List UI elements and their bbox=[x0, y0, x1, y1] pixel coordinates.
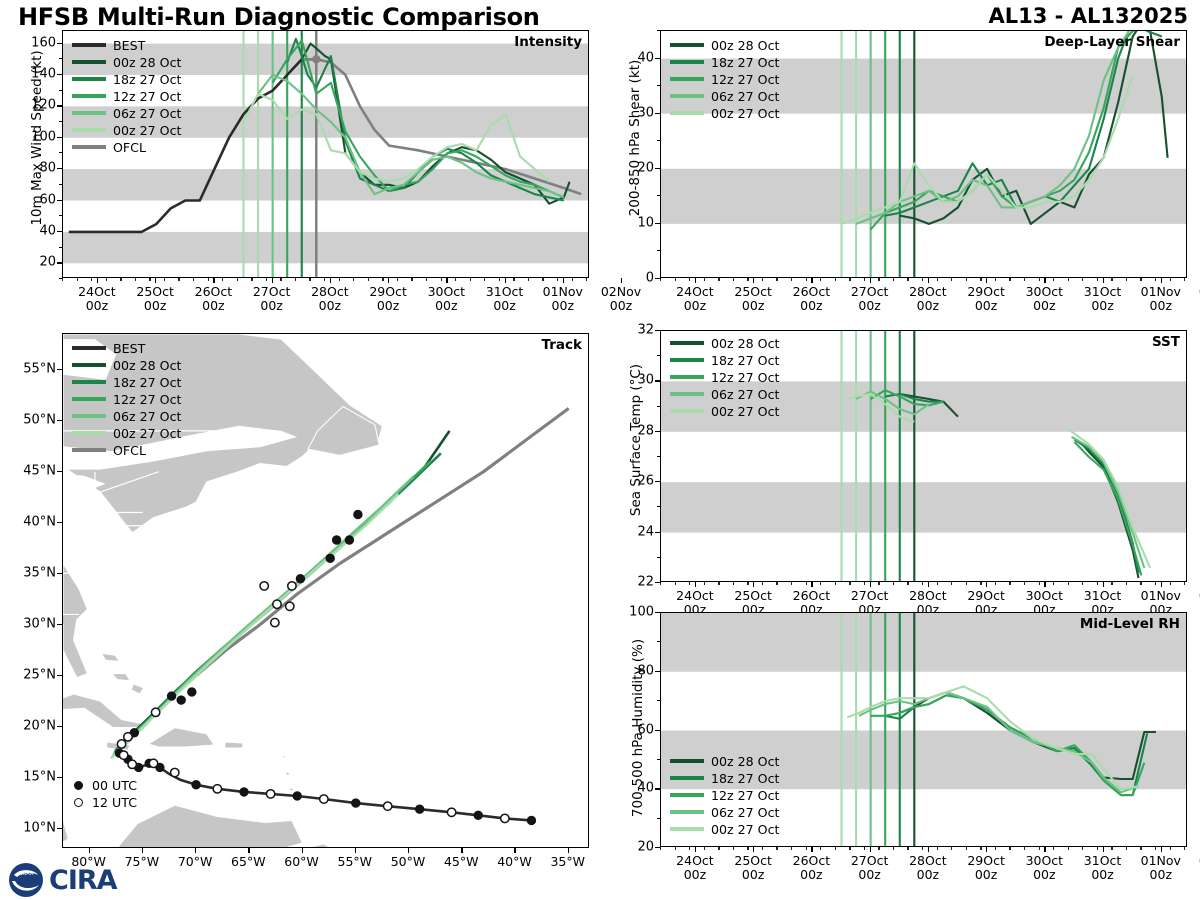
x-minor-tick bbox=[324, 278, 325, 281]
legend-item[interactable]: 00z 27 Oct bbox=[72, 425, 181, 441]
x-minor-tick bbox=[1009, 582, 1010, 585]
x-minor-tick bbox=[689, 278, 690, 281]
x-minor-tick bbox=[747, 582, 748, 585]
x-minor-tick bbox=[106, 278, 107, 281]
legend-swatch-00z-28-oct bbox=[670, 759, 704, 763]
x-minor-tick bbox=[966, 582, 967, 585]
legend-swatch-00z-27-oct bbox=[72, 431, 106, 435]
legend-swatch-12z-27-oct bbox=[670, 375, 704, 379]
track-y-tick-mark bbox=[57, 522, 62, 523]
x-tick-date: 29Oct bbox=[956, 854, 1016, 868]
x-minor-tick bbox=[820, 847, 821, 850]
x-minor-tick bbox=[806, 847, 807, 850]
x-minor-tick bbox=[1097, 847, 1098, 850]
legend-swatch-18z-27-oct bbox=[72, 380, 106, 384]
x-minor-tick bbox=[91, 278, 92, 281]
x-tick-date: 27Oct bbox=[840, 589, 900, 603]
x-minor-tick bbox=[542, 278, 543, 281]
landmass bbox=[225, 742, 243, 748]
x-minor-tick bbox=[266, 278, 267, 281]
legend-item[interactable]: 00z 28 Oct bbox=[670, 37, 779, 53]
x-tick-label: 30Oct00z bbox=[1014, 854, 1074, 883]
legend-label: 18z 27 Oct bbox=[711, 353, 779, 368]
x-minor-tick bbox=[1053, 582, 1054, 585]
x-minor-tick bbox=[718, 278, 719, 281]
track-marker-00utc bbox=[352, 799, 360, 807]
y-minor-tick bbox=[657, 506, 660, 507]
x-tick-label: 24Oct00z bbox=[67, 285, 127, 314]
track-marker-12utc bbox=[266, 790, 274, 798]
init-marker bbox=[312, 55, 320, 63]
x-tick-date: 25Oct bbox=[125, 285, 185, 299]
legend-item[interactable]: 12z 27 Oct bbox=[670, 71, 779, 87]
legend-item[interactable]: 06z 27 Oct bbox=[670, 804, 779, 820]
x-minor-tick bbox=[835, 278, 836, 281]
track-x-tick-label: 45°W bbox=[431, 855, 491, 869]
x-tick-date: 27Oct bbox=[840, 285, 900, 299]
track-y-tick-label: 50°N bbox=[4, 412, 56, 427]
legend-label: 12z 27 Oct bbox=[711, 370, 779, 385]
track-marker-00utc bbox=[474, 811, 482, 819]
sst-panel-title: SST bbox=[1152, 334, 1180, 350]
x-minor-tick bbox=[1097, 278, 1098, 281]
x-minor-tick bbox=[164, 278, 165, 281]
legend-swatch-12z-27-oct bbox=[670, 77, 704, 81]
legend-item[interactable]: 00z 28 Oct bbox=[72, 357, 181, 373]
y-tick-label: 40 bbox=[616, 50, 654, 65]
legend-item[interactable]: 06z 27 Oct bbox=[72, 408, 181, 424]
x-tick-label: 02Nov00z bbox=[591, 285, 651, 314]
x-minor-tick bbox=[922, 847, 923, 850]
x-minor-tick bbox=[528, 278, 529, 281]
track-marker-12utc bbox=[286, 602, 294, 610]
legend-item[interactable]: OFCL bbox=[72, 139, 181, 155]
x-minor-tick bbox=[237, 278, 238, 281]
x-tick-mark bbox=[505, 278, 506, 283]
sst-panel: SST 00z 28 Oct18z 27 Oct12z 27 Oct06z 27… bbox=[660, 330, 1187, 582]
y-tick-label: 30 bbox=[616, 373, 654, 388]
shaded-band bbox=[63, 232, 589, 263]
x-minor-tick bbox=[1184, 278, 1185, 281]
y-tick-label: 60 bbox=[18, 192, 56, 207]
legend-item[interactable]: 06z 27 Oct bbox=[670, 88, 779, 104]
x-tick-mark bbox=[155, 278, 156, 283]
legend-swatch-18z-27-oct bbox=[670, 776, 704, 780]
x-minor-tick bbox=[1082, 278, 1083, 281]
x-minor-tick bbox=[397, 278, 398, 281]
track-marker-00utc bbox=[296, 575, 304, 583]
track-y-tick-label: 40°N bbox=[4, 514, 56, 529]
x-minor-tick bbox=[1111, 582, 1112, 585]
y-tick-label: 160 bbox=[18, 35, 56, 50]
x-minor-tick bbox=[77, 278, 78, 281]
x-minor-tick bbox=[135, 278, 136, 281]
y-minor-tick bbox=[657, 700, 660, 701]
x-minor-tick bbox=[1126, 582, 1127, 585]
x-minor-tick bbox=[1039, 278, 1040, 281]
track-marker-12utc bbox=[260, 582, 268, 590]
x-minor-tick bbox=[820, 278, 821, 281]
x-tick-date: 24Oct bbox=[67, 285, 127, 299]
x-tick-label: 02Nov00z bbox=[1189, 285, 1200, 314]
track-marker-00utc bbox=[326, 554, 334, 562]
x-minor-tick bbox=[426, 278, 427, 281]
legend-item[interactable]: 12z 27 Oct bbox=[72, 391, 181, 407]
x-minor-tick bbox=[733, 582, 734, 585]
legend-item[interactable]: 00z 28 Oct bbox=[72, 54, 181, 70]
y-tick-mark bbox=[57, 74, 62, 75]
track-marker-12utc bbox=[117, 740, 125, 748]
x-tick-hour: 00z bbox=[898, 868, 958, 882]
y-minor-tick bbox=[59, 215, 62, 216]
x-tick-date: 02Nov bbox=[591, 285, 651, 299]
x-tick-mark bbox=[811, 582, 812, 587]
x-minor-tick bbox=[1184, 582, 1185, 585]
legend-label: 00z 27 Oct bbox=[711, 404, 779, 419]
track-marker-00utc bbox=[240, 788, 248, 796]
track-y-tick-label: 20°N bbox=[4, 718, 56, 733]
x-minor-tick bbox=[1140, 582, 1141, 585]
x-tick-label: 29Oct00z bbox=[956, 285, 1016, 314]
x-tick-hour: 00z bbox=[723, 868, 783, 882]
x-tick-hour: 00z bbox=[183, 299, 243, 313]
x-minor-tick bbox=[937, 582, 938, 585]
track-marker-00utc bbox=[332, 536, 340, 544]
x-minor-tick bbox=[980, 278, 981, 281]
legend-item[interactable]: 06z 27 Oct bbox=[670, 386, 779, 402]
legend-item[interactable]: BEST bbox=[72, 37, 181, 53]
x-minor-tick bbox=[995, 582, 996, 585]
x-minor-tick bbox=[718, 847, 719, 850]
legend-swatch-06z-27-oct bbox=[670, 810, 704, 814]
legend-item[interactable]: OFCL bbox=[72, 442, 181, 458]
marker-legend-label: 00 UTC bbox=[92, 778, 137, 793]
x-tick-date: 28Oct bbox=[898, 589, 958, 603]
track-x-tick-label: 65°W bbox=[218, 855, 278, 869]
legend-label: 06z 27 Oct bbox=[711, 387, 779, 402]
x-tick-label: 28Oct00z bbox=[898, 285, 958, 314]
x-tick-hour: 00z bbox=[665, 299, 725, 313]
legend-item[interactable]: 18z 27 Oct bbox=[670, 54, 779, 70]
legend-item[interactable]: 18z 27 Oct bbox=[670, 770, 779, 786]
track-marker-12utc bbox=[213, 785, 221, 793]
x-minor-tick bbox=[1068, 847, 1069, 850]
legend-item[interactable]: 00z 27 Oct bbox=[72, 122, 181, 138]
x-tick-hour: 00z bbox=[1131, 299, 1191, 313]
x-tick-label: 28Oct00z bbox=[300, 285, 360, 314]
legend-swatch-00z-27-oct bbox=[670, 111, 704, 115]
x-tick-mark bbox=[986, 582, 987, 587]
x-minor-tick bbox=[1111, 278, 1112, 281]
x-tick-hour: 00z bbox=[1189, 603, 1200, 617]
x-tick-label: 25Oct00z bbox=[125, 285, 185, 314]
x-tick-hour: 00z bbox=[665, 868, 725, 882]
y-minor-tick bbox=[59, 152, 62, 153]
x-tick-mark bbox=[870, 278, 871, 283]
track-y-tick-mark bbox=[57, 675, 62, 676]
y-minor-tick bbox=[657, 355, 660, 356]
x-minor-tick bbox=[835, 582, 836, 585]
x-minor-tick bbox=[557, 278, 558, 281]
legend-swatch-00z-28-oct bbox=[72, 363, 106, 367]
legend-swatch-12z-27-oct bbox=[72, 397, 106, 401]
legend-item[interactable]: 00z 28 Oct bbox=[670, 753, 779, 769]
x-minor-tick bbox=[849, 847, 850, 850]
track-y-tick-label: 55°N bbox=[4, 361, 56, 376]
track-marker-00utc bbox=[188, 688, 196, 696]
x-minor-tick bbox=[660, 847, 661, 850]
intensity-panel: Intensity BEST00z 28 Oct18z 27 Oct12z 27… bbox=[62, 30, 589, 278]
track-y-tick-mark bbox=[57, 369, 62, 370]
track-marker-00utc bbox=[527, 816, 535, 824]
legend-label: 06z 27 Oct bbox=[113, 409, 181, 424]
x-tick-mark bbox=[928, 847, 929, 852]
x-tick-label: 01Nov00z bbox=[1131, 285, 1191, 314]
x-minor-tick bbox=[922, 278, 923, 281]
x-minor-tick bbox=[878, 847, 879, 850]
x-minor-tick bbox=[893, 278, 894, 281]
x-minor-tick bbox=[120, 278, 121, 281]
x-minor-tick bbox=[1170, 847, 1171, 850]
x-minor-tick bbox=[864, 278, 865, 281]
y-tick-mark bbox=[57, 200, 62, 201]
legend-item[interactable]: 00z 28 Oct bbox=[670, 335, 779, 351]
x-minor-tick bbox=[864, 582, 865, 585]
marker-legend-item: 12 UTC bbox=[74, 795, 137, 810]
x-minor-tick bbox=[849, 278, 850, 281]
y-minor-tick bbox=[657, 818, 660, 819]
track-marker-12utc bbox=[124, 733, 132, 741]
track-x-tick-label: 60°W bbox=[272, 855, 332, 869]
x-minor-tick bbox=[470, 278, 471, 281]
legend-label: 00z 28 Oct bbox=[711, 38, 779, 53]
shear-panel-title: Deep-Layer Shear bbox=[1044, 34, 1180, 50]
x-minor-tick bbox=[689, 847, 690, 850]
legend-label: 00z 27 Oct bbox=[711, 106, 779, 121]
x-minor-tick bbox=[980, 847, 981, 850]
shaded-band bbox=[661, 482, 1187, 532]
x-minor-tick bbox=[675, 847, 676, 850]
track-x-tick-mark bbox=[355, 848, 356, 853]
track-marker-12utc bbox=[149, 759, 157, 767]
x-tick-date: 25Oct bbox=[723, 854, 783, 868]
legend-item[interactable]: 06z 27 Oct bbox=[72, 105, 181, 121]
legend-swatch-06z-27-oct bbox=[670, 94, 704, 98]
x-tick-label: 24Oct00z bbox=[665, 854, 725, 883]
track-marker-00utc bbox=[177, 696, 185, 704]
x-minor-tick bbox=[776, 582, 777, 585]
legend-item[interactable]: BEST bbox=[72, 340, 181, 356]
y-tick-mark bbox=[57, 168, 62, 169]
x-tick-date: 30Oct bbox=[1014, 854, 1074, 868]
x-tick-mark bbox=[1103, 847, 1104, 852]
track-marker-12utc bbox=[171, 768, 179, 776]
track-marker-12utc bbox=[273, 600, 281, 608]
shear-legend: 00z 28 Oct18z 27 Oct12z 27 Oct06z 27 Oct… bbox=[670, 37, 779, 121]
x-minor-tick bbox=[441, 278, 442, 281]
x-tick-date: 30Oct bbox=[416, 285, 476, 299]
x-tick-date: 26Oct bbox=[781, 589, 841, 603]
x-minor-tick bbox=[295, 278, 296, 281]
x-tick-label: 24Oct00z bbox=[665, 285, 725, 314]
x-minor-tick bbox=[951, 847, 952, 850]
legend-label: 00z 28 Oct bbox=[711, 754, 779, 769]
x-minor-tick bbox=[791, 582, 792, 585]
x-tick-label: 29Oct00z bbox=[358, 285, 418, 314]
x-minor-tick bbox=[660, 278, 661, 281]
storm-id-label: AL13 - AL132025 bbox=[989, 4, 1189, 28]
track-marker-12utc bbox=[271, 618, 279, 626]
x-tick-date: 02Nov bbox=[1189, 589, 1200, 603]
x-tick-mark bbox=[330, 278, 331, 283]
x-minor-tick bbox=[937, 847, 938, 850]
marker-legend-label: 12 UTC bbox=[92, 795, 137, 810]
y-tick-mark bbox=[655, 431, 660, 432]
y-tick-mark bbox=[57, 43, 62, 44]
x-minor-tick bbox=[762, 847, 763, 850]
x-minor-tick bbox=[864, 847, 865, 850]
legend-item[interactable]: 00z 27 Oct bbox=[670, 821, 779, 837]
page-title: HFSB Multi-Run Diagnostic Comparison bbox=[18, 3, 540, 31]
x-tick-date: 26Oct bbox=[781, 285, 841, 299]
x-minor-tick bbox=[1140, 278, 1141, 281]
x-tick-hour: 00z bbox=[1014, 299, 1074, 313]
x-tick-hour: 00z bbox=[358, 299, 418, 313]
x-minor-tick bbox=[704, 582, 705, 585]
y-tick-mark bbox=[655, 532, 660, 533]
x-tick-label: 26Oct00z bbox=[781, 285, 841, 314]
x-tick-label: 27Oct00z bbox=[840, 854, 900, 883]
track-panel: Track BEST00z 28 Oct18z 27 Oct12z 27 Oct… bbox=[62, 333, 589, 848]
x-minor-tick bbox=[806, 582, 807, 585]
x-minor-tick bbox=[675, 582, 676, 585]
x-minor-tick bbox=[1155, 582, 1156, 585]
legend-label: 00z 27 Oct bbox=[113, 123, 181, 138]
x-minor-tick bbox=[339, 278, 340, 281]
y-tick-label: 60 bbox=[616, 722, 654, 737]
x-minor-tick bbox=[149, 278, 150, 281]
rh-legend: 00z 28 Oct18z 27 Oct12z 27 Oct06z 27 Oct… bbox=[670, 753, 779, 837]
y-tick-mark bbox=[655, 113, 660, 114]
y-tick-label: 140 bbox=[18, 66, 56, 81]
x-tick-hour: 00z bbox=[1073, 299, 1133, 313]
legend-item[interactable]: 00z 27 Oct bbox=[670, 105, 779, 121]
legend-item[interactable]: 12z 27 Oct bbox=[72, 88, 181, 104]
x-tick-label: 31Oct00z bbox=[1073, 854, 1133, 883]
y-tick-label: 40 bbox=[616, 781, 654, 796]
legend-item[interactable]: 18z 27 Oct bbox=[72, 374, 181, 390]
track-y-tick-label: 15°N bbox=[4, 769, 56, 784]
x-tick-mark bbox=[97, 278, 98, 283]
legend-swatch-00z-28-oct bbox=[670, 341, 704, 345]
y-tick-label: 22 bbox=[616, 575, 654, 590]
x-minor-tick bbox=[1009, 278, 1010, 281]
track-marker-12utc bbox=[447, 808, 455, 816]
y-minor-tick bbox=[657, 456, 660, 457]
x-minor-tick bbox=[484, 278, 485, 281]
track-x-tick-label: 70°W bbox=[165, 855, 225, 869]
legend-item[interactable]: 00z 27 Oct bbox=[670, 403, 779, 419]
x-tick-date: 30Oct bbox=[1014, 285, 1074, 299]
x-tick-date: 01Nov bbox=[1131, 854, 1191, 868]
y-tick-label: 0 bbox=[616, 271, 654, 286]
legend-label: 12z 27 Oct bbox=[113, 392, 181, 407]
x-minor-tick bbox=[878, 582, 879, 585]
x-minor-tick bbox=[1082, 582, 1083, 585]
x-tick-date: 24Oct bbox=[665, 854, 725, 868]
track-x-tick-mark bbox=[89, 848, 90, 853]
x-tick-hour: 00z bbox=[300, 299, 360, 313]
x-tick-date: 01Nov bbox=[533, 285, 593, 299]
track-x-tick-label: 50°W bbox=[378, 855, 438, 869]
y-tick-label: 100 bbox=[18, 129, 56, 144]
x-tick-hour: 00z bbox=[781, 299, 841, 313]
x-tick-label: 27Oct00z bbox=[840, 285, 900, 314]
legend-item[interactable]: 18z 27 Oct bbox=[670, 352, 779, 368]
x-tick-hour: 00z bbox=[242, 299, 302, 313]
track-x-tick-mark bbox=[302, 848, 303, 853]
x-tick-hour: 00z bbox=[533, 299, 593, 313]
y-minor-tick bbox=[657, 85, 660, 86]
legend-label: 00z 28 Oct bbox=[113, 358, 181, 373]
x-tick-label: 02Nov00z bbox=[1189, 589, 1200, 618]
legend-item[interactable]: 12z 27 Oct bbox=[670, 787, 779, 803]
y-tick-label: 40 bbox=[18, 223, 56, 238]
legend-swatch-06z-27-oct bbox=[72, 414, 106, 418]
x-tick-date: 31Oct bbox=[1073, 285, 1133, 299]
track-marker-00utc bbox=[192, 781, 200, 789]
x-tick-date: 29Oct bbox=[956, 589, 1016, 603]
x-tick-hour: 00z bbox=[1189, 299, 1200, 313]
legend-swatch-18z-27-oct bbox=[670, 358, 704, 362]
x-minor-tick bbox=[893, 847, 894, 850]
legend-label: 18z 27 Oct bbox=[113, 72, 181, 87]
y-tick-mark bbox=[655, 481, 660, 482]
track-marker-12utc bbox=[119, 751, 127, 759]
track-y-tick-label: 45°N bbox=[4, 463, 56, 478]
track-marker-12utc bbox=[151, 708, 159, 716]
legend-item[interactable]: 18z 27 Oct bbox=[72, 71, 181, 87]
y-tick-mark bbox=[655, 788, 660, 789]
x-tick-date: 27Oct bbox=[242, 285, 302, 299]
x-tick-mark bbox=[753, 582, 754, 587]
x-minor-tick bbox=[62, 278, 63, 281]
y-tick-mark bbox=[655, 223, 660, 224]
legend-item[interactable]: 12z 27 Oct bbox=[670, 369, 779, 385]
x-tick-label: 31Oct00z bbox=[1073, 285, 1133, 314]
x-tick-mark bbox=[1103, 278, 1104, 283]
track-y-tick-mark bbox=[57, 420, 62, 421]
y-tick-label: 24 bbox=[616, 524, 654, 539]
x-tick-hour: 00z bbox=[1073, 868, 1133, 882]
x-tick-hour: 00z bbox=[416, 299, 476, 313]
x-minor-tick bbox=[1184, 847, 1185, 850]
legend-swatch-00z-28-oct bbox=[670, 43, 704, 47]
y-minor-tick bbox=[657, 140, 660, 141]
y-minor-tick bbox=[657, 195, 660, 196]
legend-label: 00z 27 Oct bbox=[113, 426, 181, 441]
x-minor-tick bbox=[1126, 847, 1127, 850]
x-tick-date: 26Oct bbox=[781, 854, 841, 868]
x-minor-tick bbox=[704, 278, 705, 281]
x-minor-tick bbox=[951, 278, 952, 281]
y-tick-mark bbox=[57, 262, 62, 263]
x-minor-tick bbox=[980, 582, 981, 585]
x-tick-label: 29Oct00z bbox=[956, 854, 1016, 883]
x-tick-hour: 00z bbox=[898, 299, 958, 313]
x-minor-tick bbox=[1155, 278, 1156, 281]
y-tick-label: 20 bbox=[18, 255, 56, 270]
